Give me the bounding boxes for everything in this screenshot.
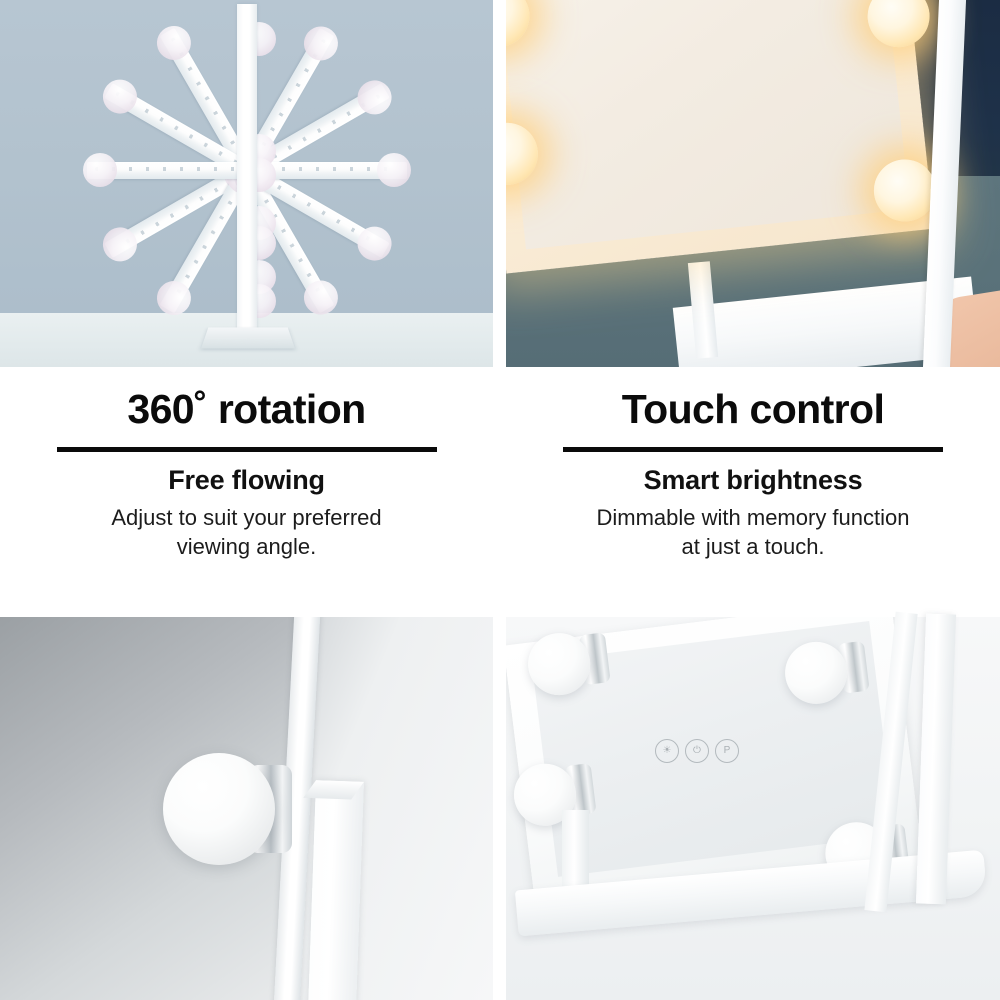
feature-subtitle: Smart brightness (506, 452, 1000, 496)
feature-description-line-1: Adjust to suit your preferred (0, 496, 493, 532)
stand-stem (562, 810, 589, 894)
touch-control-panel[interactable]: ☀ ⏻ P (655, 739, 741, 765)
stand-base-plate (201, 327, 295, 348)
rotation-composite (0, 0, 493, 367)
panel-touch-photo: ⏻ P (506, 0, 1000, 367)
feature-description-line-2: viewing angle. (0, 532, 493, 561)
power-button[interactable]: ⏻ (685, 739, 709, 763)
bulb-icon (297, 274, 343, 320)
mirror-glass (506, 0, 910, 249)
feature-description-line-1: Dimmable with memory function (506, 496, 1000, 532)
bulb-icon (150, 20, 196, 66)
panel-rotation-photo (0, 0, 493, 367)
leg-cap (303, 780, 364, 799)
stand-leg (308, 780, 364, 1000)
feature-description-line-2: at just a touch. (506, 532, 1000, 561)
brightness-button[interactable]: ☀ (655, 739, 679, 763)
panel-frame-photo: Solid metal frame (0, 617, 493, 1000)
bulb-icon (96, 73, 142, 119)
bulb-icon (351, 74, 397, 120)
bulb-icon (297, 20, 343, 66)
stand-post (237, 4, 257, 334)
bulb-icon (150, 275, 196, 321)
feature-subtitle: Free flowing (0, 452, 493, 496)
lit-mirror (506, 0, 934, 274)
preset-button[interactable]: P (715, 739, 739, 763)
text-block-touch: Touch control Smart brightness Dimmable … (506, 367, 1000, 615)
feature-title: 360˚ rotation (0, 367, 493, 430)
bulb-icon (377, 153, 411, 187)
bulb-icon (351, 220, 397, 266)
feature-title: Touch control (506, 367, 1000, 430)
text-block-rotation: 360˚ rotation Free flowing Adjust to sui… (0, 367, 493, 615)
bulb-icon (96, 221, 142, 267)
infographic-sheet: ⏻ P 360˚ rotation Free flowing Adjust to… (0, 0, 1000, 1000)
bulb-icon (163, 753, 275, 865)
bulb-icon (83, 153, 117, 187)
